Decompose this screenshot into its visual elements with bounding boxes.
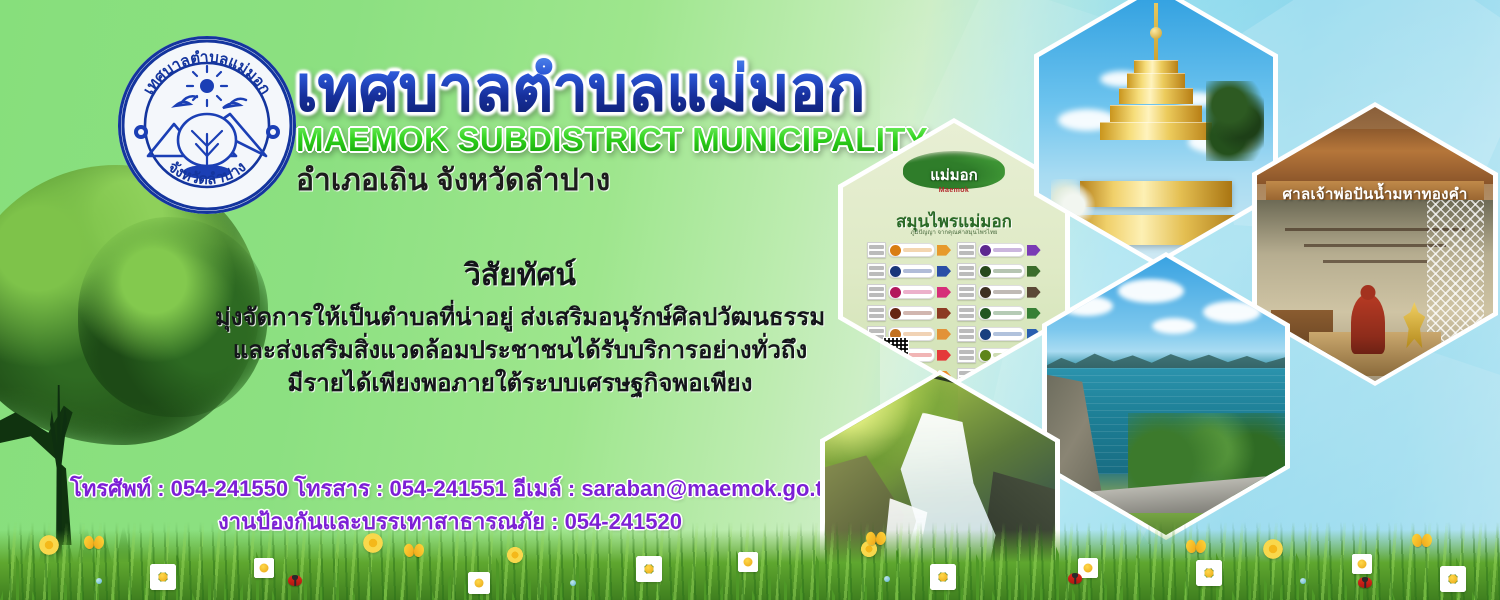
herbal-poster-subtitle: ภูมิปัญญา จากคุณค่าสมุนไพรไทย	[843, 227, 1065, 237]
butterfly-icon	[404, 544, 424, 560]
vision-heading: วิสัยทัศน์	[190, 252, 850, 299]
vision-block: วิสัยทัศน์ มุ่งจัดการให้เป็นตำบลที่น่าอย…	[190, 252, 850, 400]
product-arrow-icon	[937, 287, 951, 298]
page-title-thai: เทศบาลตำบลแม่มอก	[296, 58, 956, 121]
grass-border	[0, 522, 1500, 600]
product-row	[957, 284, 1041, 301]
ladybug-icon	[1358, 577, 1372, 588]
product-box-icon	[957, 284, 976, 300]
product-arrow-icon	[937, 308, 951, 319]
dew-drop-icon	[570, 580, 576, 586]
product-label	[978, 285, 1025, 299]
daisy-flower-icon	[1352, 554, 1372, 574]
product-box-icon	[957, 326, 976, 342]
product-label	[888, 243, 935, 257]
ladybug-icon	[1068, 573, 1082, 584]
daisy-flower-icon	[254, 558, 274, 578]
butterfly-icon	[1412, 534, 1432, 550]
herbal-product-grid	[867, 242, 1040, 345]
product-box-icon	[867, 284, 886, 300]
daisy-flower-icon	[636, 556, 662, 582]
product-label	[888, 285, 935, 299]
product-row	[957, 305, 1041, 322]
product-label	[888, 264, 935, 278]
guardian-statue-icon	[1351, 294, 1385, 354]
product-label	[978, 306, 1025, 320]
ladybug-icon	[288, 575, 302, 586]
product-box-icon	[867, 242, 886, 258]
daisy-flower-icon	[150, 564, 176, 590]
dew-drop-icon	[96, 578, 102, 584]
page-title-english: MAEMOK SUBDISTRICT MUNICIPALITY	[296, 123, 956, 158]
product-arrow-icon	[1027, 266, 1041, 277]
tree-icon	[1206, 81, 1264, 161]
daisy-flower-icon	[930, 564, 956, 590]
product-label	[978, 243, 1025, 257]
herbal-logo: แม่มอก Maemok	[903, 151, 1005, 194]
product-row	[867, 305, 951, 322]
municipality-seal-logo: เทศบาลตำบลแม่มอก จังหวัดลำปาง	[118, 36, 296, 214]
butterfly-icon	[1186, 540, 1206, 556]
product-row	[867, 242, 951, 259]
product-box-icon	[957, 347, 976, 363]
product-label	[978, 264, 1025, 278]
product-box-icon	[867, 263, 886, 279]
daisy-flower-icon	[738, 552, 758, 572]
herbal-logo-subtitle: Maemok	[903, 187, 1005, 194]
product-arrow-icon	[1027, 245, 1041, 256]
pagoda-spire-icon	[1154, 3, 1158, 65]
yellow-flower-icon	[506, 546, 524, 564]
vision-line: มีรายได้เพียงพอภายใต้ระบบเศรษฐกิจพอเพียง	[190, 367, 850, 400]
product-box-icon	[957, 242, 976, 258]
product-label	[888, 306, 935, 320]
product-arrow-icon	[937, 266, 951, 277]
product-row	[957, 326, 1041, 343]
yellow-flower-icon	[38, 534, 60, 556]
daisy-flower-icon	[1196, 560, 1222, 586]
daisy-flower-icon	[468, 572, 490, 594]
vision-line: และส่งเสริมสิ่งแวดล้อมประชาชนได้รับบริกา…	[190, 334, 850, 367]
product-arrow-icon	[937, 329, 951, 340]
product-row	[867, 263, 951, 280]
product-label	[978, 327, 1025, 341]
yellow-flower-icon	[362, 532, 384, 554]
butterfly-icon	[84, 536, 104, 552]
product-row	[867, 326, 951, 343]
shrine-caption: ศาลเจ้าพ่อปันน้ำมหาทองคำ	[1257, 182, 1493, 206]
product-arrow-icon	[937, 350, 951, 361]
yellow-flower-icon	[1262, 538, 1284, 560]
dew-drop-icon	[1300, 578, 1306, 584]
product-arrow-icon	[937, 245, 951, 256]
municipality-banner: เทศบาลตำบลแม่มอก จังหวัดลำปาง เทศบาลตำบล…	[0, 0, 1500, 600]
product-arrow-icon	[1027, 287, 1041, 298]
product-box-icon	[957, 263, 976, 279]
vision-line: มุ่งจัดการให้เป็นตำบลที่น่าอยู่ ส่งเสริม…	[190, 301, 850, 334]
product-box-icon	[957, 305, 976, 321]
contact-line-primary: โทรศัพท์ : 054-241550 โทรสาร : 054-24155…	[70, 472, 830, 505]
daisy-flower-icon	[1440, 566, 1466, 592]
dew-drop-icon	[884, 576, 890, 582]
butterfly-icon	[866, 532, 886, 548]
herbal-logo-title: แม่มอก	[903, 163, 1005, 187]
product-row	[957, 263, 1041, 280]
product-row	[957, 242, 1041, 259]
product-row	[867, 284, 951, 301]
product-arrow-icon	[1027, 308, 1041, 319]
product-box-icon	[867, 305, 886, 321]
